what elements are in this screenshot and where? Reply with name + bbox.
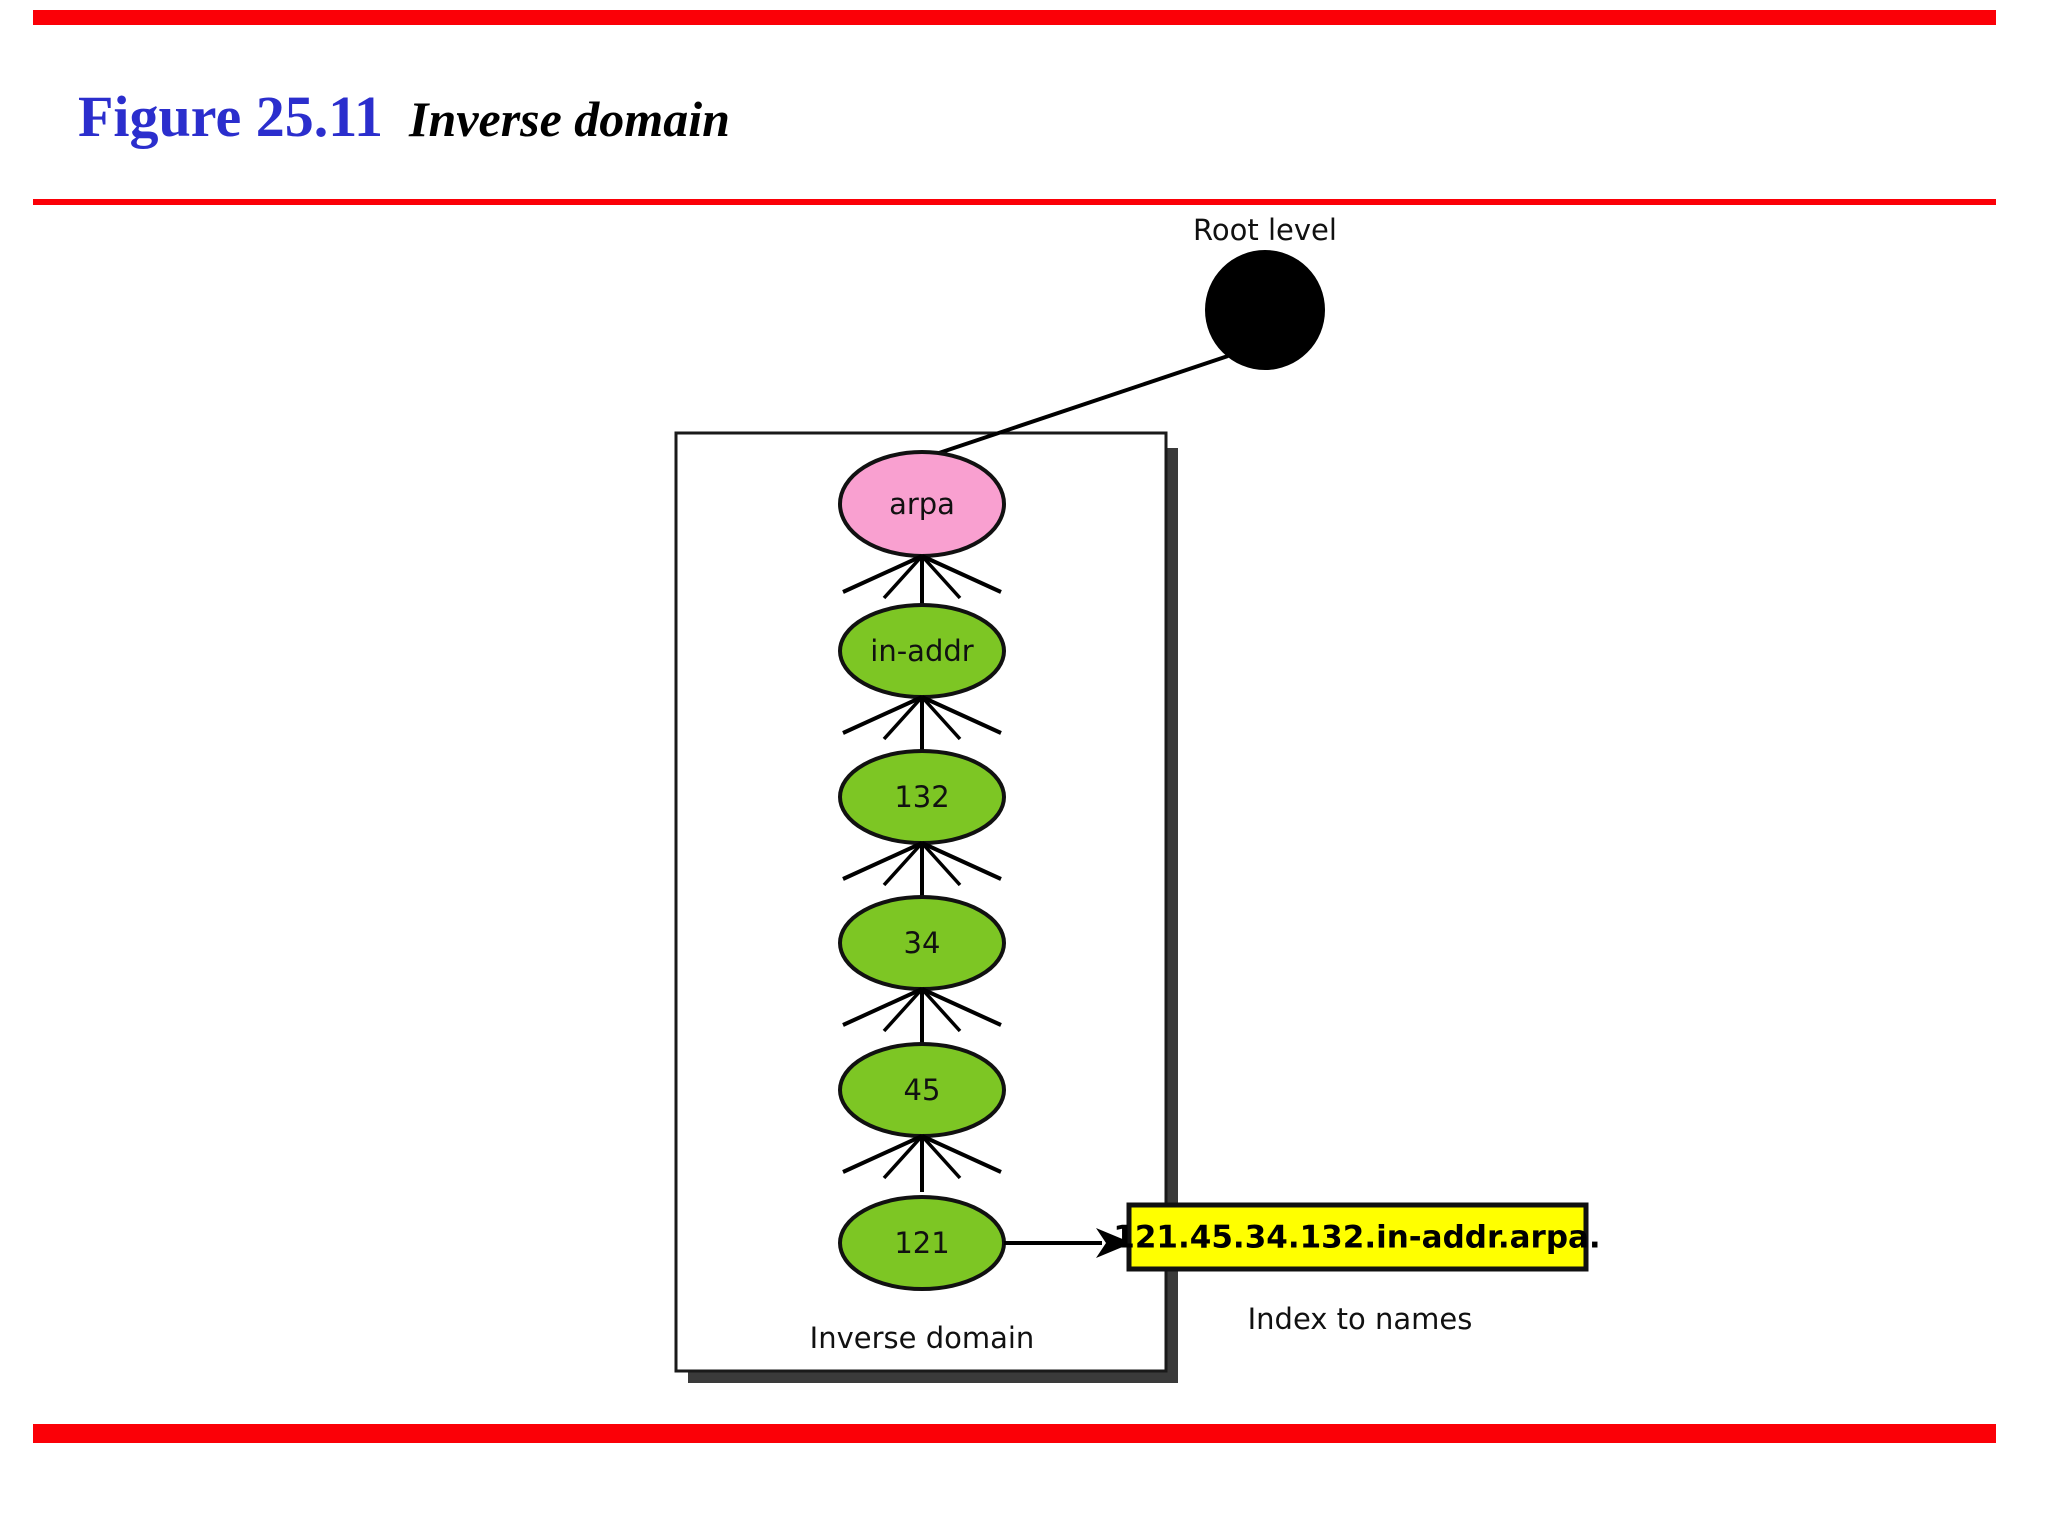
- node-132-label: 132: [894, 780, 949, 814]
- slide-canvas: Figure 25.11Inverse domain Root level ar…: [0, 0, 2048, 1536]
- node-in-addr-label: in-addr: [870, 634, 973, 668]
- node-121-label: 121: [894, 1226, 949, 1260]
- root-node: [1205, 250, 1325, 370]
- node-45-label: 45: [904, 1073, 941, 1107]
- node-arpa-label: arpa: [889, 487, 955, 521]
- node-34-label: 34: [904, 926, 941, 960]
- root-level-label: Root level: [1193, 213, 1337, 247]
- inverse-domain-caption: Inverse domain: [810, 1321, 1035, 1355]
- result-box-label: 121.45.34.132.in-addr.arpa.: [1113, 1220, 1600, 1256]
- index-to-names-caption: Index to names: [1248, 1302, 1473, 1336]
- inverse-domain-diagram: Root level arpa in-addr 132: [0, 0, 2048, 1536]
